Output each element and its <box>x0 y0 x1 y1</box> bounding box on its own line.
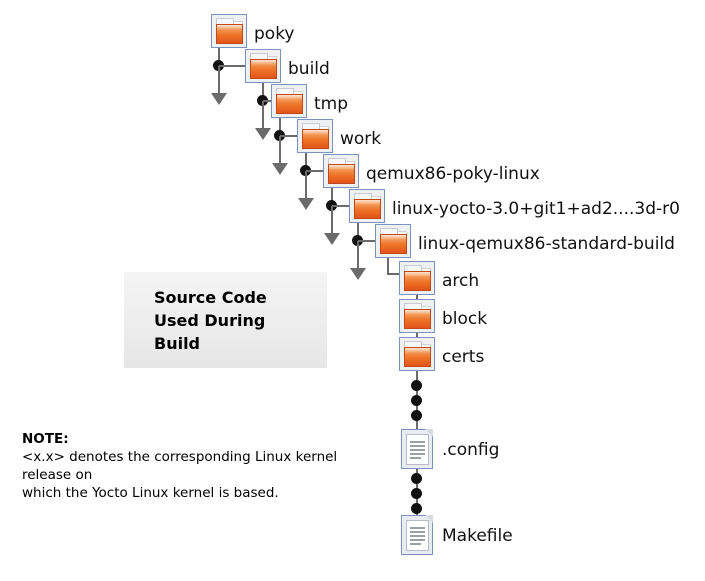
note-line-2: which the Yocto Linux kernel is based. <box>22 484 382 502</box>
ellipsis-dot-4 <box>411 473 422 484</box>
folder-icon <box>375 224 411 258</box>
folder-icon <box>399 337 435 371</box>
folder-icon <box>297 119 333 153</box>
tree-node-label-certs: certs <box>442 347 484 367</box>
ellipsis-dot-2 <box>411 395 422 406</box>
connector-linuxyocto-arrow-stem <box>357 241 359 270</box>
tree-node-label-linux-qemux86-standard-build: linux-qemux86-standard-build <box>418 234 675 254</box>
connector-build-arrow-stem <box>262 101 264 130</box>
note-block: NOTE: <x.x> denotes the corresponding Li… <box>22 430 382 502</box>
arrowhead-build <box>255 128 271 140</box>
ellipsis-dot-6 <box>411 503 422 514</box>
file-icon <box>401 515 433 555</box>
ellipsis-dot-3 <box>411 410 422 421</box>
folder-icon <box>399 299 435 333</box>
callout-line-2: Used During <box>154 309 265 332</box>
file-icon <box>401 429 433 469</box>
tree-node-label-work: work <box>340 129 381 149</box>
tree-node-label-build: build <box>288 59 330 79</box>
arrowhead-linuxyocto <box>350 268 366 280</box>
callout-box: Source Code Used During Build <box>124 272 327 368</box>
tree-node-label-config: .config <box>442 440 499 460</box>
folder-icon <box>399 261 435 295</box>
tree-node-label-tmp: tmp <box>314 94 348 114</box>
tree-node-label-poky: poky <box>254 24 295 44</box>
callout-line-3: Build <box>154 332 200 355</box>
tree-node-label-block: block <box>442 309 487 329</box>
tree-node-label-linux-yocto: linux-yocto-3.0+git1+ad2....3d-r0 <box>392 199 680 219</box>
directory-tree-diagram: poky build tmp work qemux86-poky-linux l… <box>0 0 705 581</box>
callout-line-1: Source Code <box>154 286 267 309</box>
tree-node-label-makefile: Makefile <box>442 526 513 546</box>
connector-work-arrow-stem <box>305 171 307 200</box>
folder-icon <box>349 189 385 223</box>
connector-poky-to-build <box>219 65 245 67</box>
connector-tmp-arrow-stem <box>279 136 281 165</box>
connector-qemux86-arrow-stem <box>331 206 333 235</box>
tree-node-label-qemux86-poky-linux: qemux86-poky-linux <box>366 164 540 184</box>
note-line-1: <x.x> denotes the corresponding Linux ke… <box>22 448 382 484</box>
ellipsis-dot-5 <box>411 488 422 499</box>
folder-icon <box>323 154 359 188</box>
folder-icon <box>211 14 247 48</box>
note-heading: NOTE: <box>22 430 382 448</box>
connector-poky-arrow-stem <box>218 66 220 95</box>
ellipsis-dot-1 <box>411 380 422 391</box>
arrowhead-qemux86 <box>324 233 340 245</box>
folder-icon <box>271 84 307 118</box>
arrowhead-poky <box>211 93 227 105</box>
tree-node-label-arch: arch <box>442 271 479 291</box>
arrowhead-tmp <box>272 163 288 175</box>
folder-icon <box>245 49 281 83</box>
arrowhead-work <box>298 198 314 210</box>
